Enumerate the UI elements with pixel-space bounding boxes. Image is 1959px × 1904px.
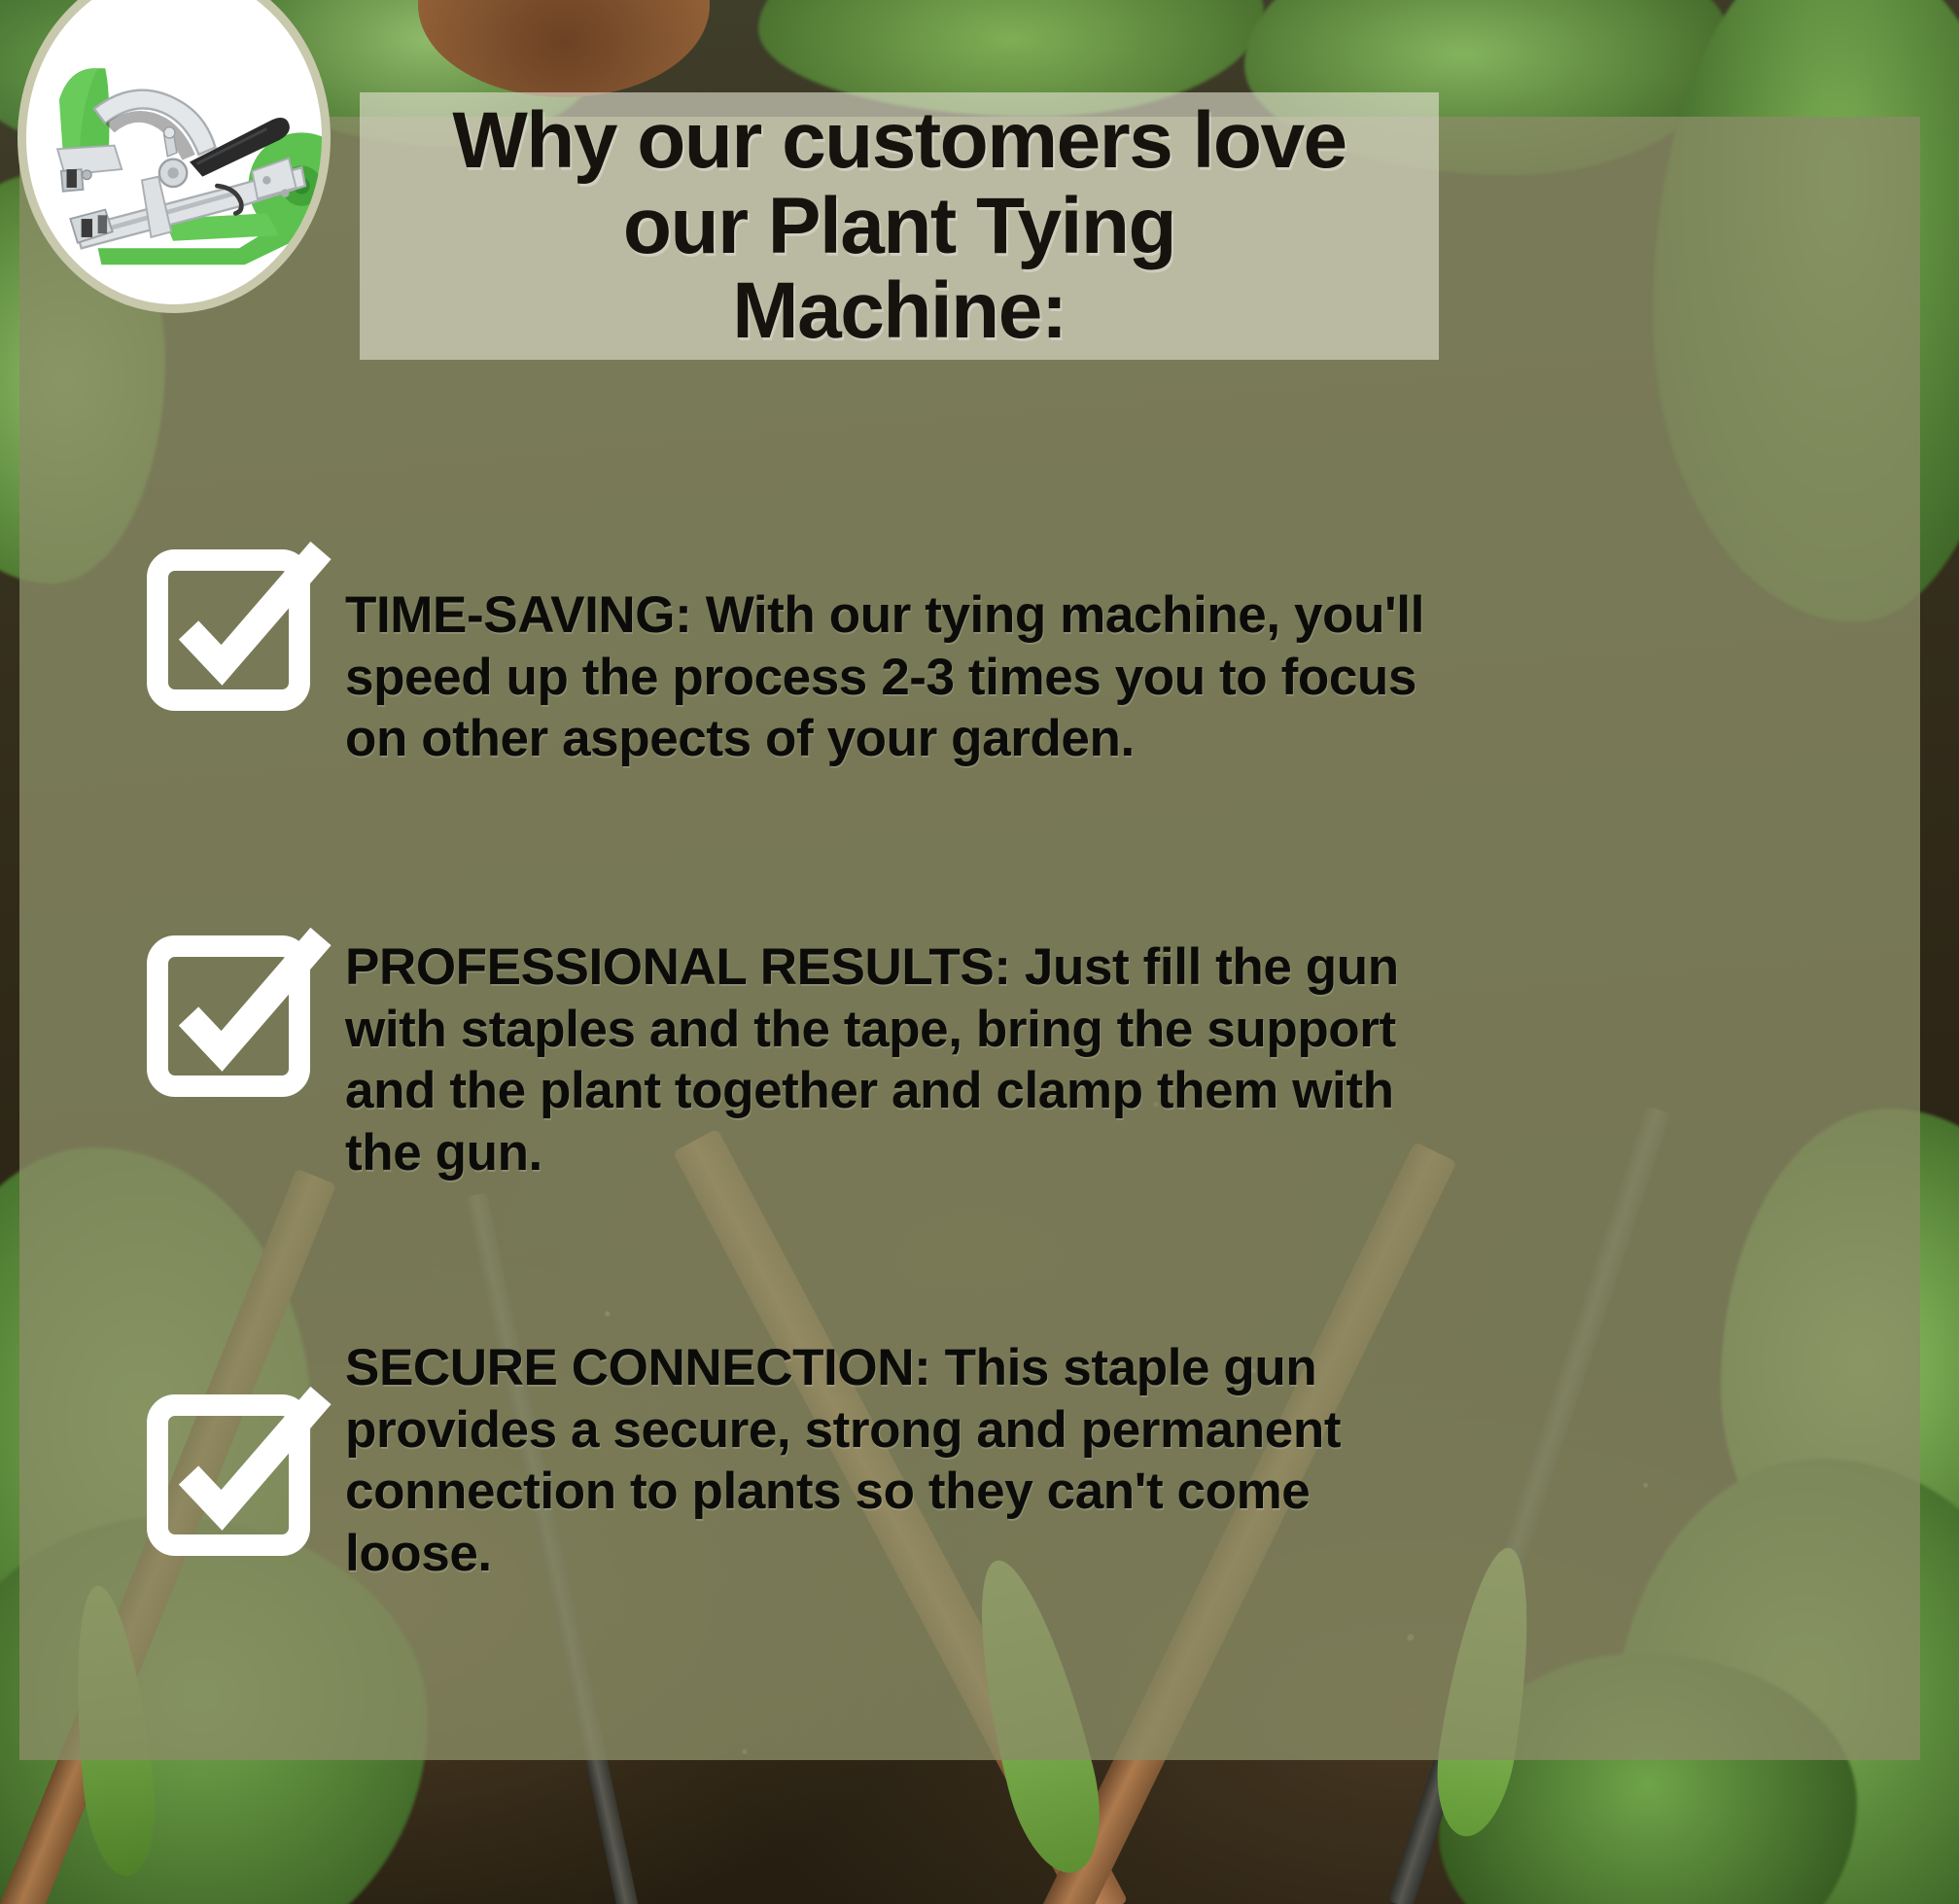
infographic-canvas: Why our customers love our Plant Tying M…	[0, 0, 1959, 1904]
checkbox-checked-icon	[144, 927, 319, 1102]
feature-list: TIME-SAVING: With our tying machine, you…	[0, 0, 1959, 1904]
feature-row: TIME-SAVING: With our tying machine, you…	[136, 531, 1429, 822]
feature-lead: PROFESSIONAL RESULTS:	[345, 938, 1011, 996]
feature-text: SECURE CONNECTION: This staple gun provi…	[345, 1335, 1429, 1584]
checkbox-checked-icon	[144, 541, 319, 716]
feature-row: SECURE CONNECTION: This staple gun provi…	[136, 1284, 1429, 1636]
feature-lead: SECURE CONNECTION:	[345, 1339, 930, 1396]
feature-text: PROFESSIONAL RESULTS: Just fill the gun …	[345, 934, 1429, 1183]
checkbox-checked-icon	[144, 1386, 319, 1561]
feature-lead: TIME-SAVING:	[345, 586, 691, 644]
feature-text: TIME-SAVING: With our tying machine, you…	[345, 582, 1429, 770]
feature-row: PROFESSIONAL RESULTS: Just fill the gun …	[136, 883, 1429, 1235]
